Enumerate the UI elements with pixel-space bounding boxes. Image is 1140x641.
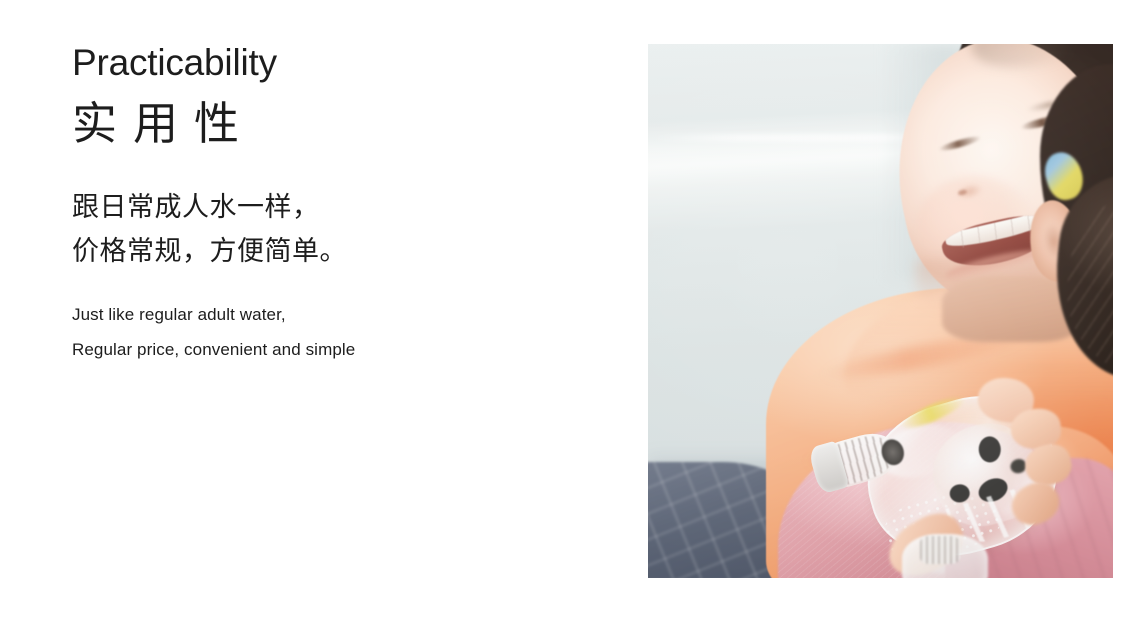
body-text-chinese: 跟日常成人水一样， 价格常规，方便简单。 [72,186,612,273]
photo-inner [648,44,1113,578]
page-title-chinese: 实用性 [72,99,612,149]
child-drinking-water-photo [648,44,1113,578]
page-title-english: Practicability [72,44,612,83]
slide-canvas: Practicability 实用性 跟日常成人水一样， 价格常规，方便简单。 … [0,0,1140,641]
second-bottle-cap [920,536,960,564]
body-english-line-1: Just like regular adult water, [72,298,612,333]
body-english-line-2: Regular price, convenient and simple [72,333,612,368]
text-column: Practicability 实用性 跟日常成人水一样， 价格常规，方便简单。 … [72,44,612,368]
body-text-english: Just like regular adult water, Regular p… [72,298,612,368]
body-chinese-line-2: 价格常规，方便简单。 [72,230,612,274]
body-chinese-line-1: 跟日常成人水一样， [72,186,612,230]
